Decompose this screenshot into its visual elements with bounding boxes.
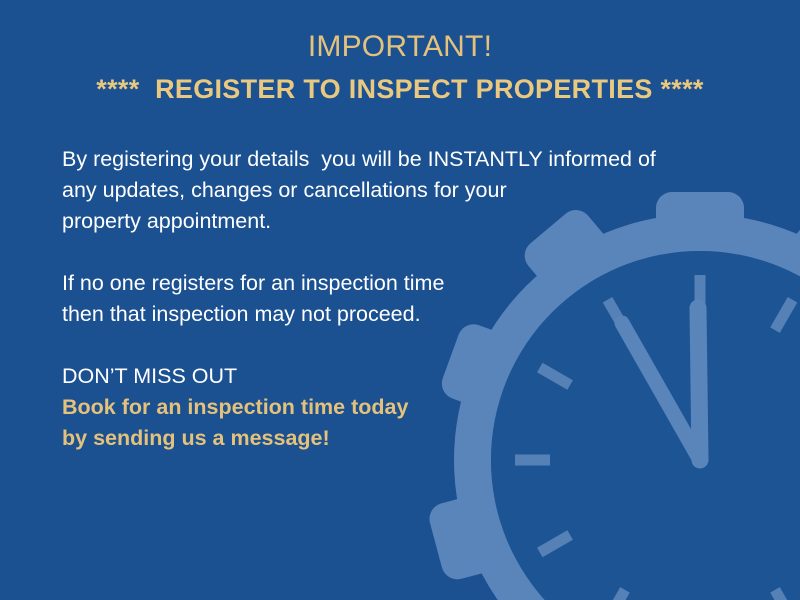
paragraph-line: then that inspection may not proceed. bbox=[62, 299, 722, 330]
paragraph-line: any updates, changes or cancellations fo… bbox=[62, 175, 722, 206]
page-title: IMPORTANT! bbox=[0, 28, 800, 66]
cta-line-message: by sending us a message! bbox=[62, 423, 722, 454]
paragraph-line: By registering your details you will be … bbox=[62, 144, 722, 175]
paragraph-no-registration: If no one registers for an inspection ti… bbox=[62, 268, 722, 330]
paragraph-spacer bbox=[62, 330, 722, 361]
call-to-action-block: DON’T MISS OUT Book for an inspection ti… bbox=[62, 361, 722, 454]
paragraph-line: property appointment. bbox=[62, 206, 722, 237]
paragraph-registering: By registering your details you will be … bbox=[62, 144, 722, 237]
heading-block: IMPORTANT! **** REGISTER TO INSPECT PROP… bbox=[0, 28, 800, 108]
body-copy: By registering your details you will be … bbox=[62, 144, 722, 454]
paragraph-line: If no one registers for an inspection ti… bbox=[62, 268, 722, 299]
paragraph-spacer bbox=[62, 237, 722, 268]
page-subtitle: **** REGISTER TO INSPECT PROPERTIES **** bbox=[0, 70, 800, 108]
slide-canvas: IMPORTANT! **** REGISTER TO INSPECT PROP… bbox=[0, 0, 800, 600]
cta-headline: DON’T MISS OUT bbox=[62, 361, 722, 392]
cta-line-book: Book for an inspection time today bbox=[62, 392, 722, 423]
